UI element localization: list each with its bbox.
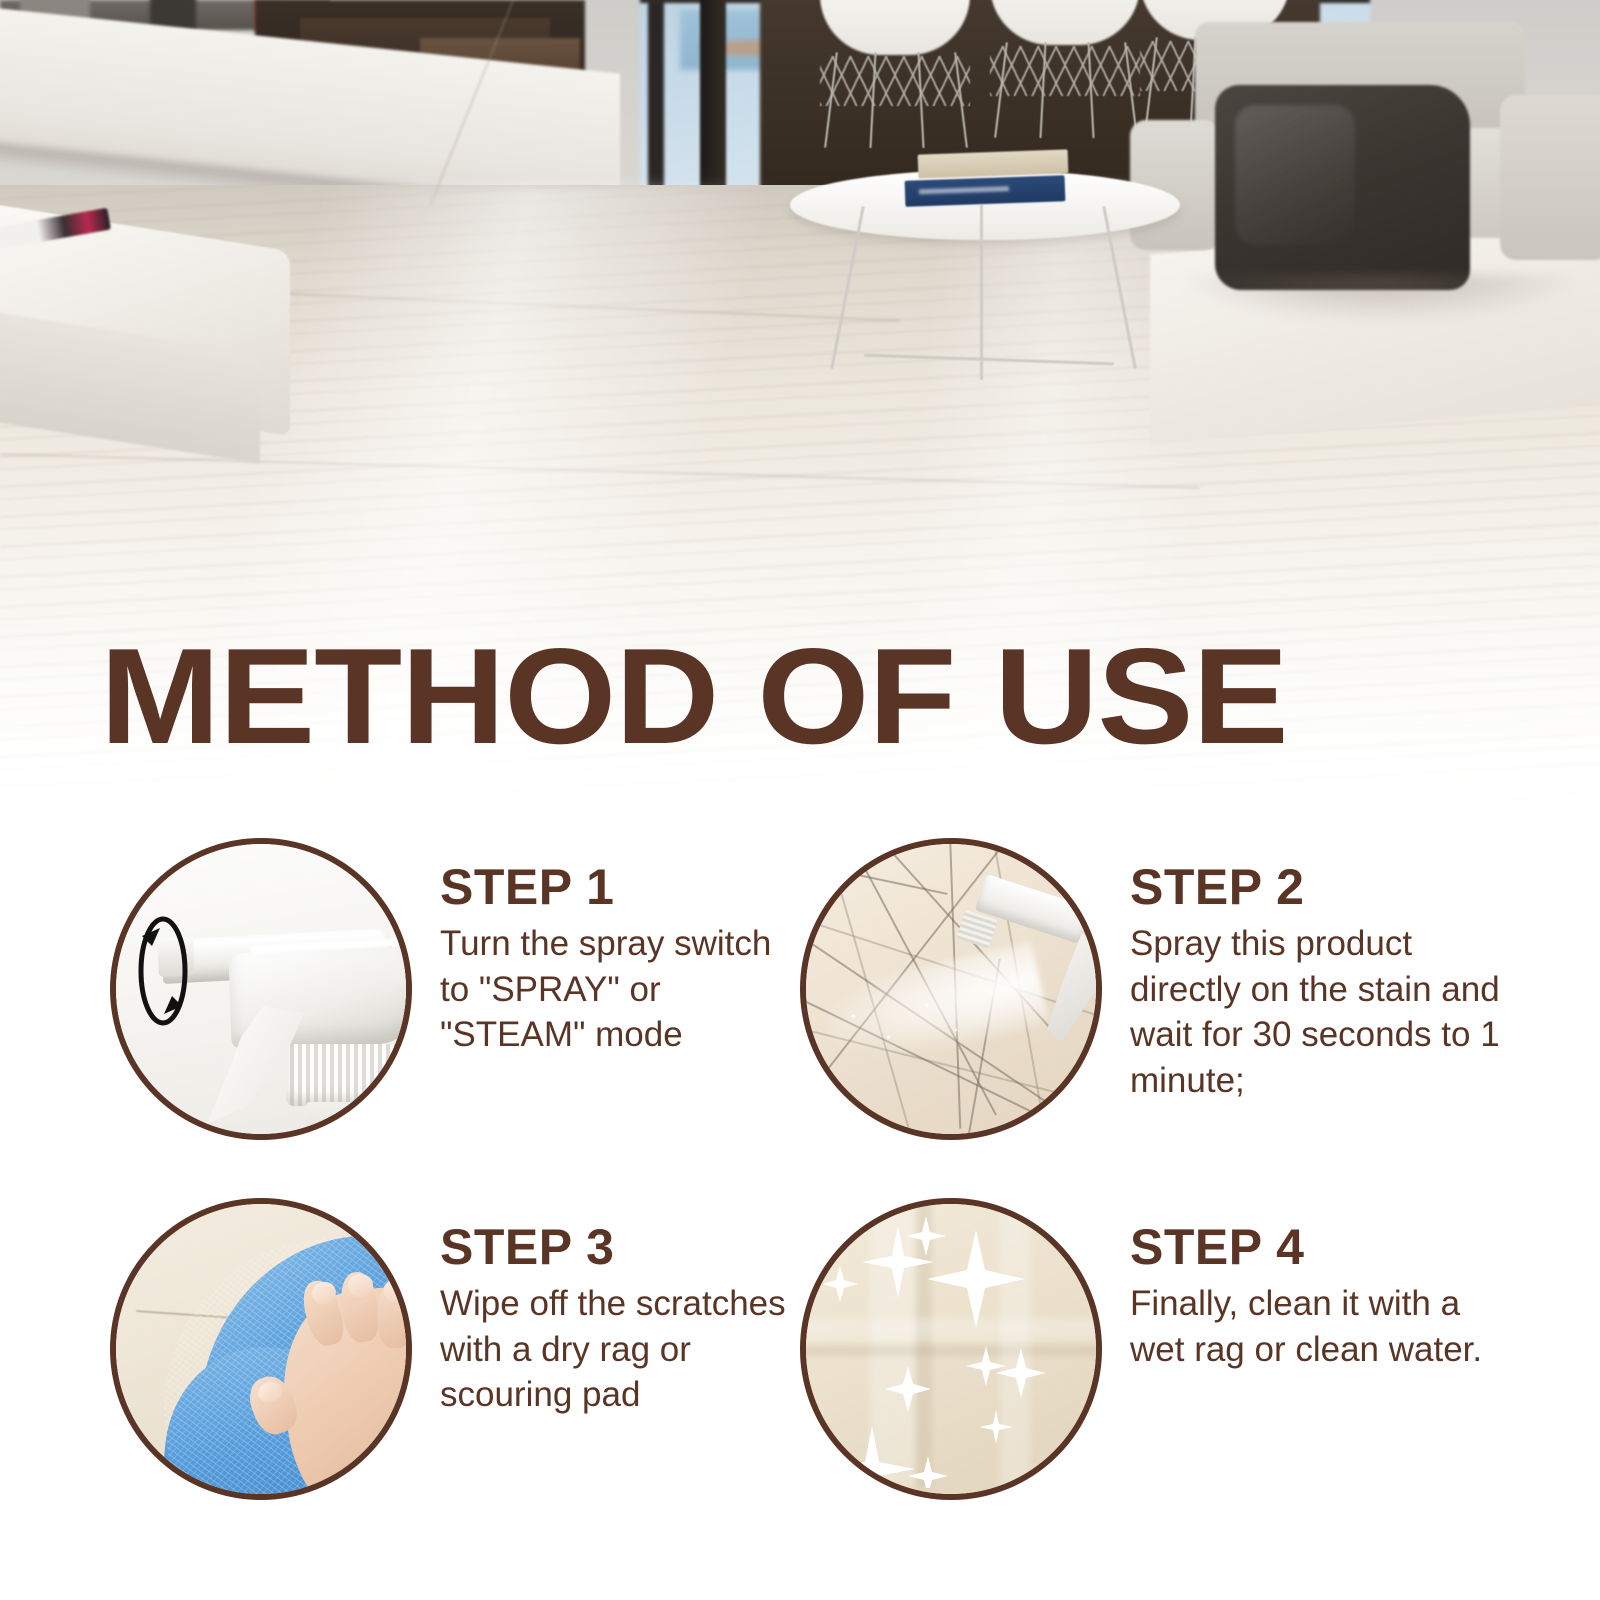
step-2-icon-circle [800, 838, 1102, 1140]
sofa-shadow [1180, 275, 1580, 323]
step-1-body: Turn the spray switch to "SPRAY" or "STE… [440, 921, 810, 1058]
step-2: STEP 2 Spray this product directly on th… [800, 838, 1500, 1140]
step-3: STEP 3 Wipe off the scratches with a dry… [110, 1198, 810, 1500]
step-3-title: STEP 3 [440, 1222, 810, 1273]
step-2-body: Spray this product directly on the stain… [1130, 921, 1500, 1103]
step-3-body: Wipe off the scratches with a dry rag or… [440, 1281, 810, 1418]
step-2-title: STEP 2 [1130, 862, 1500, 913]
infographic-canvas: METHOD OF USE STEP 1 Turn the [0, 0, 1600, 1600]
step-1: STEP 1 Turn the spray switch to "SPRAY" … [110, 838, 810, 1140]
step-3-icon-circle [110, 1198, 412, 1500]
rotation-arrow-icon [130, 906, 196, 1036]
step-1-text: STEP 1 Turn the spray switch to "SPRAY" … [440, 838, 810, 1058]
step-4-icon-circle [800, 1198, 1102, 1500]
step-4: STEP 4 Finally, clean it with a wet rag … [800, 1198, 1500, 1500]
step-4-text: STEP 4 Finally, clean it with a wet rag … [1130, 1198, 1500, 1372]
coffee-table-leg [980, 205, 983, 380]
step-1-title: STEP 1 [440, 862, 810, 913]
step-1-icon-circle [110, 838, 412, 1140]
step-2-text: STEP 2 Spray this product directly on th… [1130, 838, 1500, 1103]
sparkles-icon [800, 1198, 1090, 1488]
page-title: METHOD OF USE [100, 628, 1595, 764]
step-3-text: STEP 3 Wipe off the scratches with a dry… [440, 1198, 810, 1418]
step-4-body: Finally, clean it with a wet rag or clea… [1130, 1281, 1500, 1372]
throw-blanket-fold [1235, 105, 1355, 245]
step-4-title: STEP 4 [1130, 1222, 1500, 1273]
sofa-arm-right [1500, 95, 1600, 260]
